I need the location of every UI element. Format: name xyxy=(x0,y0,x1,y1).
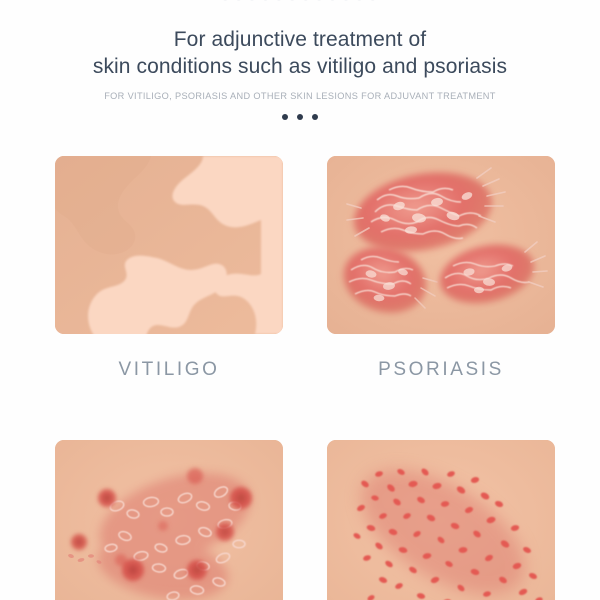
clipped-top-text: • • • • • • • • • • • • xyxy=(0,0,600,5)
subtitle: FOR VITILIGO, PSORIASIS AND OTHER SKIN L… xyxy=(0,91,600,101)
dot-icon xyxy=(312,114,318,120)
condition-card-rash[interactable] xyxy=(327,440,555,600)
condition-label-vitiligo: VITILIGO xyxy=(55,359,283,381)
eczema-illustration xyxy=(55,440,283,600)
psoriasis-illustration xyxy=(327,156,555,334)
headline-line-1: For adjunctive treatment of xyxy=(174,28,427,51)
condition-card-eczema[interactable] xyxy=(55,440,283,600)
condition-label-psoriasis: PSORIASIS xyxy=(327,359,555,381)
infographic-page: • • • • • • • • • • • • For adjunctive t… xyxy=(0,0,600,600)
header: For adjunctive treatment of skin conditi… xyxy=(0,26,600,120)
page-title: For adjunctive treatment of skin conditi… xyxy=(0,26,600,80)
dot-icon xyxy=(297,114,303,120)
dot-icon xyxy=(282,114,288,120)
rash-illustration xyxy=(327,440,555,600)
headline-line-2: skin conditions such as vitiligo and pso… xyxy=(0,53,600,80)
dot-separator xyxy=(0,114,600,120)
condition-card-psoriasis[interactable]: PSORIASIS xyxy=(327,156,555,381)
vitiligo-illustration xyxy=(55,156,283,334)
condition-card-vitiligo[interactable]: VITILIGO xyxy=(55,156,283,381)
